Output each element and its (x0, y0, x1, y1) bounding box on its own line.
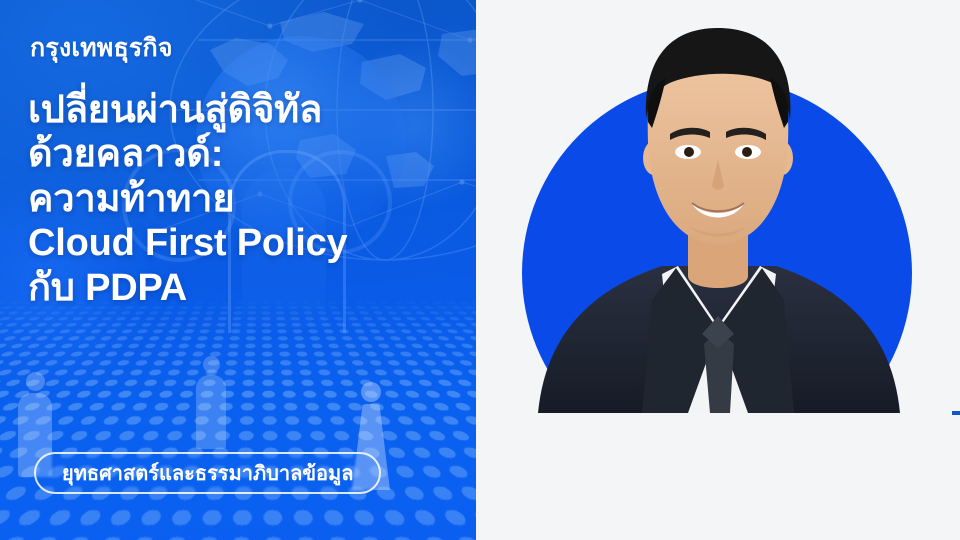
person-silhouette-icon (196, 356, 226, 449)
portrait-photo (476, 0, 960, 413)
topic-badge: ยุทธศาสตร์และธรรมาภิบาลข้อมูล (34, 452, 381, 494)
portrait-illustration (476, 0, 960, 413)
headline-line: เปลี่ยนผ่านสู่ดิจิทัล (28, 88, 458, 132)
headline-line: กับ PDPA (28, 266, 458, 310)
right-profile-panel: ดร.กำพล อดิเรกสมบัติ CEO Athentic Consul… (476, 0, 960, 540)
slide-canvas: กรุงเทพธุรกิจ เปลี่ยนผ่านสู่ดิจิทัล ด้วย… (0, 0, 960, 540)
brand-name: กรุงเทพธุรกิจ (30, 28, 173, 68)
headline-line: Cloud First Policy (28, 221, 458, 265)
headline-line: ด้วยคลาวด์: (28, 132, 458, 176)
accent-divider (952, 411, 960, 415)
dot-grid-floor-icon (0, 300, 476, 540)
headline: เปลี่ยนผ่านสู่ดิจิทัล ด้วยคลาวด์: ความท้… (28, 88, 458, 310)
headline-line: ความท้าทาย (28, 177, 458, 221)
left-blue-panel: กรุงเทพธุรกิจ เปลี่ยนผ่านสู่ดิจิทัล ด้วย… (0, 0, 476, 540)
speaker-role: CEO Athentic Consulting (952, 477, 960, 492)
